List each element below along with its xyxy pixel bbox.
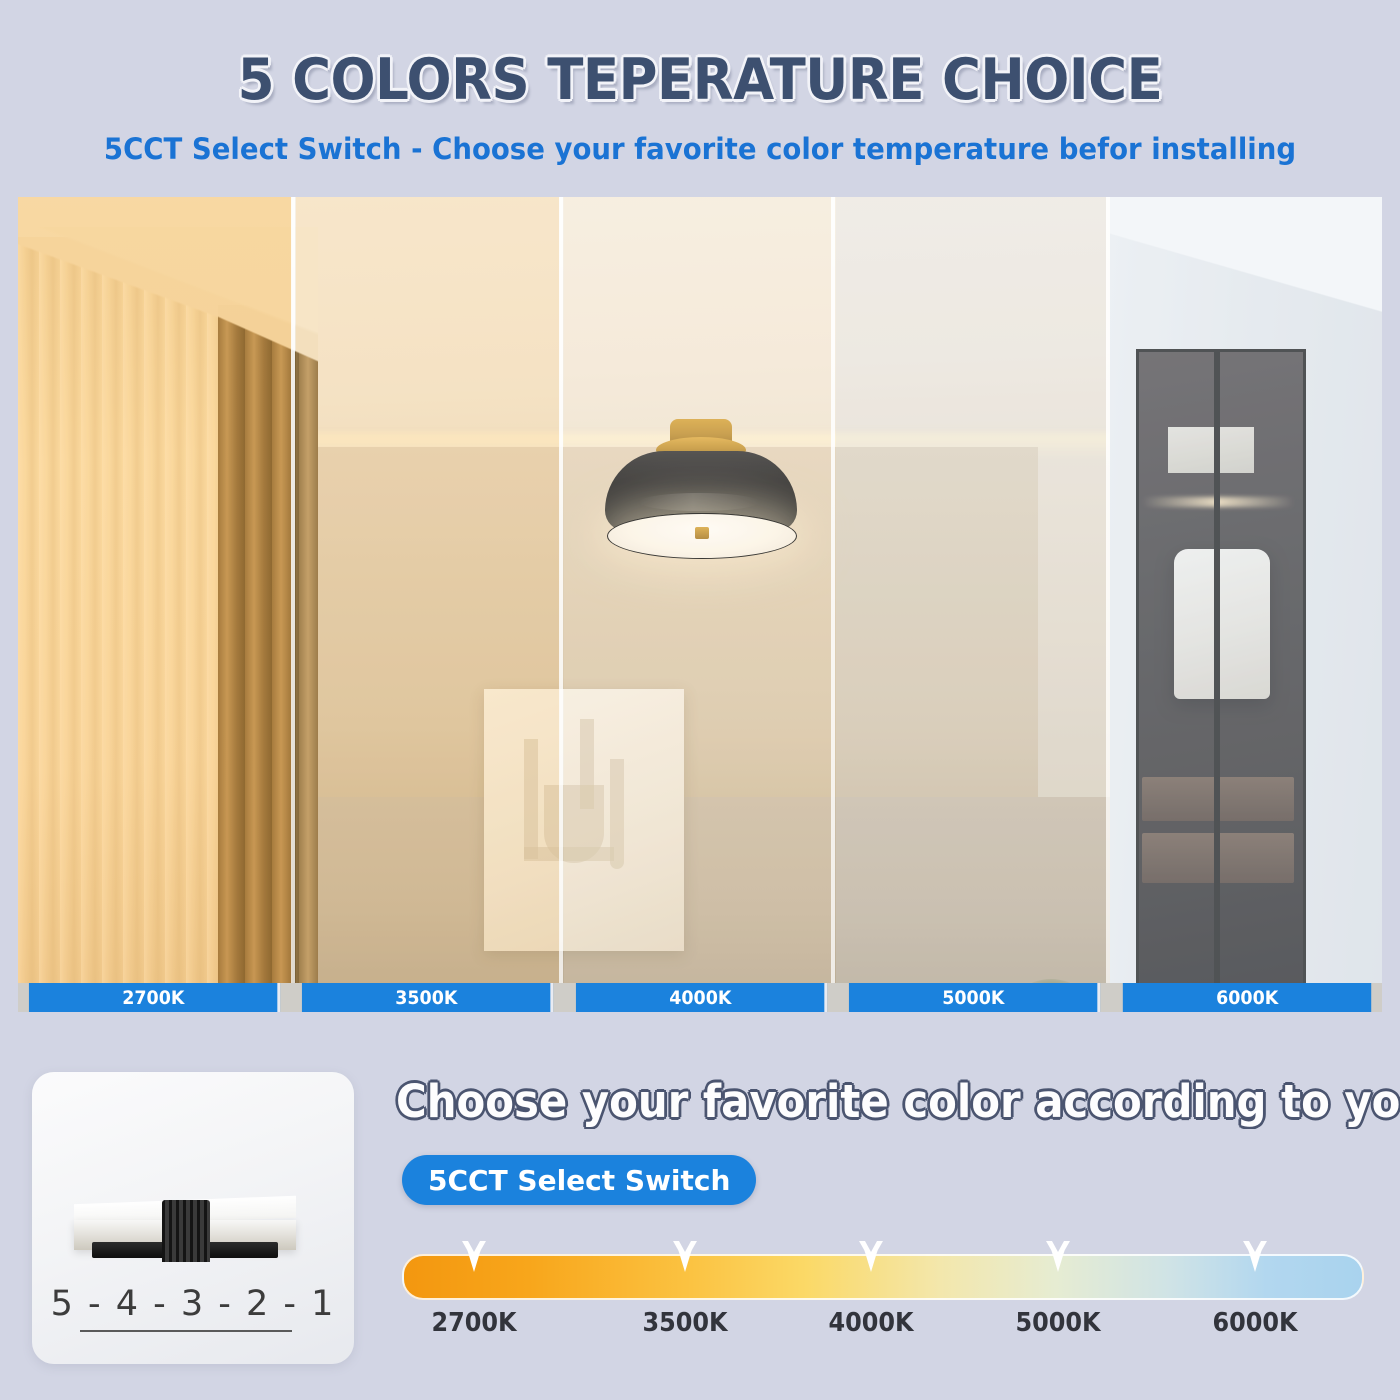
scale-label-2700k: 2700K — [431, 1308, 516, 1338]
scale-label-3500k: 3500K — [642, 1308, 727, 1338]
panel-6000k — [1110, 197, 1382, 983]
cct-label-2700k: 2700K — [29, 983, 281, 1012]
color-temperature-photo-strip — [18, 197, 1382, 1012]
cct-switch-badge: 5CCT Select Switch — [402, 1155, 756, 1205]
switch-underline — [80, 1330, 292, 1332]
cct-label-6000k: 6000K — [1122, 983, 1371, 1012]
panel-divider-2 — [559, 197, 563, 983]
header: 5 COLORS TEPERATURE CHOICE 5CCT Select S… — [0, 0, 1400, 190]
page-title: 5 COLORS TEPERATURE CHOICE — [49, 47, 1351, 113]
panel-3500k — [296, 197, 560, 983]
tint-6000k-cool — [1110, 197, 1382, 983]
panel-divider-1 — [291, 197, 295, 983]
panel-divider-3 — [831, 197, 835, 983]
scale-label-6000k: 6000K — [1212, 1308, 1297, 1338]
selector-switch-photo: 5 - 4 - 3 - 2 - 1 — [32, 1072, 354, 1364]
marker-6000k — [1242, 1240, 1268, 1274]
marker-2700k — [461, 1240, 487, 1274]
marker-5000k — [1045, 1240, 1071, 1274]
cct-label-bar: 2700K 3500K 4000K 5000K 6000K — [18, 983, 1382, 1012]
cta-heading: Choose your favorite color according to … — [396, 1075, 1400, 1128]
scale-label-4000k: 4000K — [829, 1308, 914, 1338]
marker-3500k — [672, 1240, 698, 1274]
cct-label-3500k: 3500K — [302, 983, 554, 1012]
tint-2700k-warmth — [18, 197, 292, 983]
cct-label-5000k: 5000K — [849, 983, 1101, 1012]
switch-toggle — [162, 1200, 210, 1262]
panel-5000k — [836, 197, 1106, 983]
switch-position-numbers: 5 - 4 - 3 - 2 - 1 — [32, 1284, 354, 1324]
panel-4000k — [564, 197, 832, 983]
marker-4000k — [858, 1240, 884, 1274]
panel-divider-4 — [1106, 197, 1110, 983]
page-subtitle: 5CCT Select Switch - Choose your favorit… — [35, 132, 1365, 166]
cct-label-4000k: 4000K — [576, 983, 828, 1012]
tint-4000k-lift — [564, 197, 832, 983]
scale-label-5000k: 5000K — [1016, 1308, 1101, 1338]
color-temperature-scale: 2700K 3500K 4000K 5000K 6000K — [402, 1236, 1360, 1356]
cct-switch-badge-label: 5CCT Select Switch — [428, 1164, 730, 1197]
tint-3500k-warmth — [296, 197, 560, 983]
tint-5000k-desat — [836, 197, 1106, 983]
panel-2700k — [18, 197, 292, 983]
